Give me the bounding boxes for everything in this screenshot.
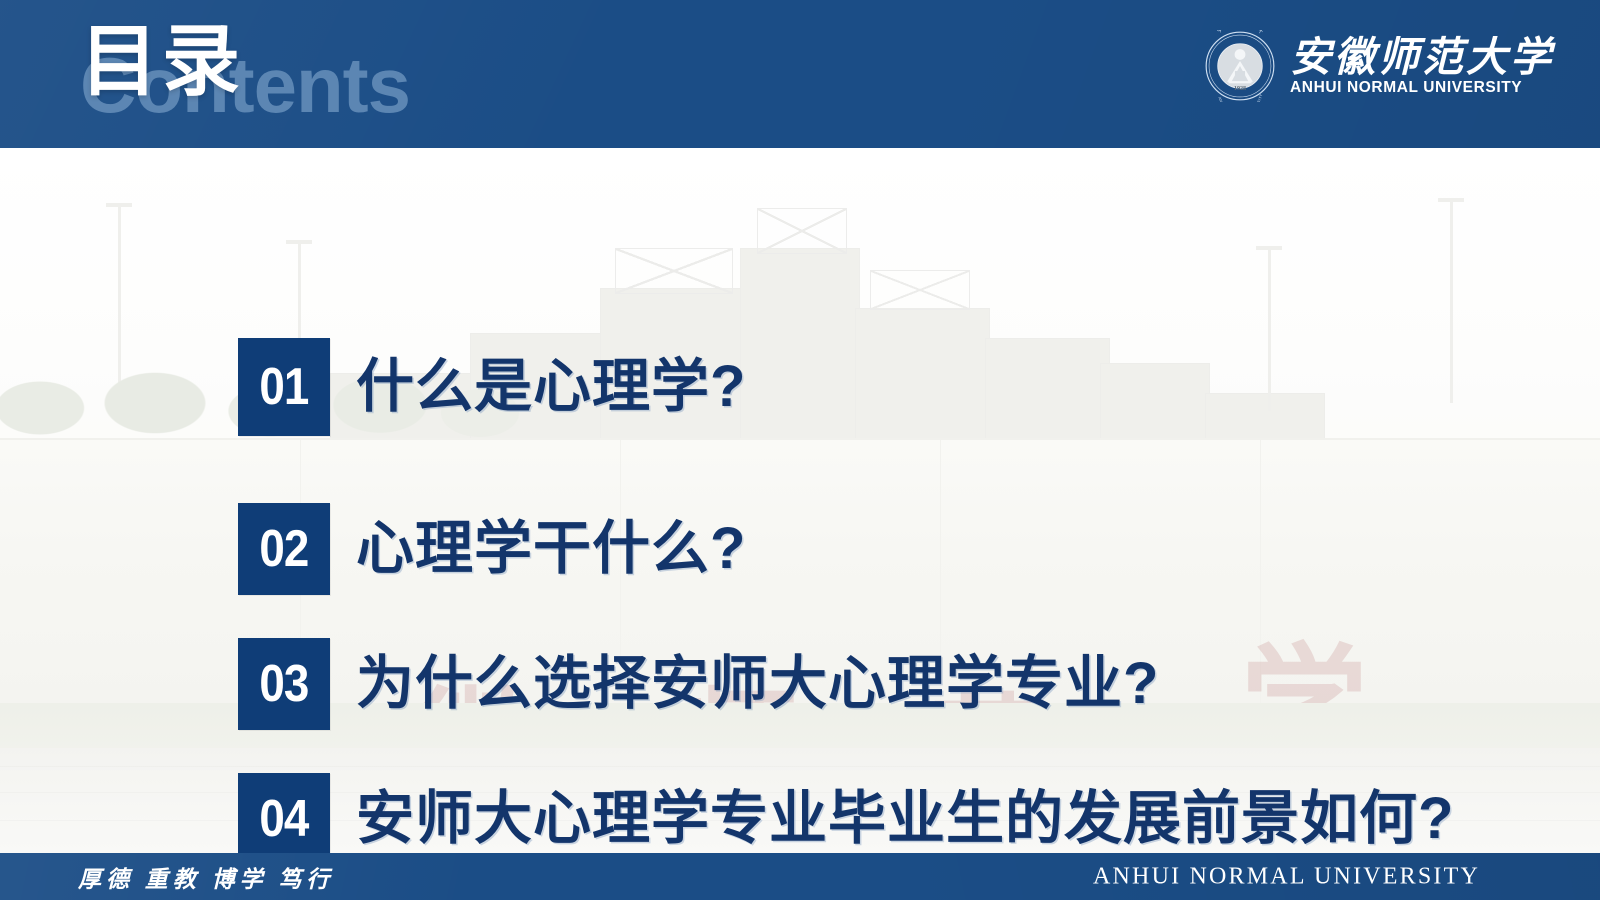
page-title: Contents 目录 [80,0,720,148]
contents-number: 04 [259,793,308,845]
footer-band: 厚德 重教 博学 笃行 ANHUI NORMAL UNIVERSITY [0,853,1600,900]
svg-text:安 徽 师 范 大 学: 安 徽 师 范 大 学 [1204,30,1267,40]
contents-item-01[interactable]: 01 什么是心理学? [238,338,746,436]
contents-number-badge: 02 [238,503,330,595]
svg-text:1928: 1928 [1234,86,1246,92]
header-band: Contents 目录 1928 安 徽 师 范 大 学 [0,0,1600,148]
footer-university-english: ANHUI NORMAL UNIVERSITY [1093,863,1480,890]
contents-item-04[interactable]: 04 安师大心理学专业毕业生的发展前景如何? [238,773,1454,865]
contents-number: 03 [259,658,308,710]
contents-number-badge: 03 [238,638,330,730]
contents-number: 02 [259,523,308,575]
university-name-english: ANHUI NORMAL UNIVERSITY [1290,80,1554,96]
contents-number-badge: 04 [238,773,330,865]
page-title-chinese: 目录 [80,22,244,100]
contents-number-badge: 01 [238,338,330,436]
contents-item-02[interactable]: 02 心理学干什么? [238,503,746,595]
contents-number: 01 [259,361,308,413]
svg-text:ANHUI NORMAL UNIVERSITY: ANHUI NORMAL UNIVERSITY [1217,93,1263,102]
university-seal-icon: 1928 安 徽 师 范 大 学 ANHUI NORMAL UNIVERSITY [1204,30,1276,102]
contents-item-label: 为什么选择安师大心理学专业? [356,655,1159,713]
contents-item-label: 安师大心理学专业毕业生的发展前景如何? [356,790,1454,848]
contents-item-label: 心理学干什么? [356,520,746,578]
footer-motto: 厚德 重教 博学 笃行 [78,860,334,894]
contents-list: 01 什么是心理学? 02 心理学干什么? 03 为什么选择安师大心理学专业? … [0,148,1600,853]
university-name-chinese: 安徽师范大学 [1290,37,1554,78]
slide-contents: 安 徽 师 范 学 Contents 目录 [0,0,1600,900]
university-logo: 1928 安 徽 师 范 大 学 ANHUI NORMAL UNIVERSITY… [1204,28,1554,104]
university-name-block: 安徽师范大学 ANHUI NORMAL UNIVERSITY [1290,37,1554,96]
contents-item-03[interactable]: 03 为什么选择安师大心理学专业? [238,638,1159,730]
contents-item-label: 什么是心理学? [356,358,746,416]
